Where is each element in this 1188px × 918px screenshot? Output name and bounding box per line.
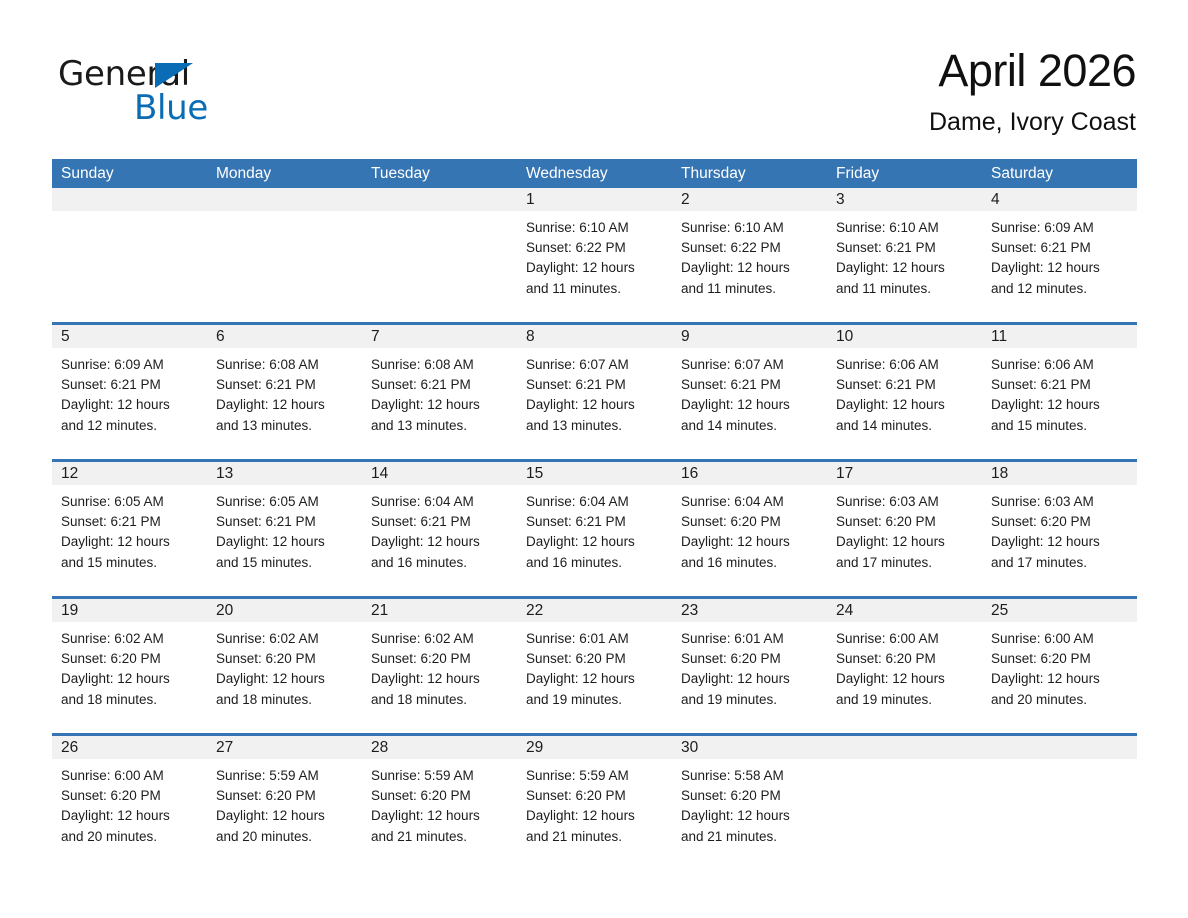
calendar-week-row: 26Sunrise: 6:00 AMSunset: 6:20 PMDayligh…: [52, 733, 1137, 865]
day-daylight-line-text: Daylight: 12 hours: [216, 669, 353, 689]
calendar-day-cell[interactable]: 25Sunrise: 6:00 AMSunset: 6:20 PMDayligh…: [982, 599, 1137, 728]
day-number: 11: [982, 325, 1137, 348]
day-daylight-line-text: Daylight: 12 hours: [371, 532, 508, 552]
day-daylight-line-text: and 16 minutes.: [681, 553, 818, 573]
day-daylight-line-text: and 16 minutes.: [526, 553, 663, 573]
day-number: 22: [517, 599, 672, 622]
day-details: Sunrise: 6:06 AMSunset: 6:21 PMDaylight:…: [982, 348, 1137, 436]
day-sunset-text: Sunset: 6:20 PM: [526, 649, 663, 669]
day-details: Sunrise: 6:10 AMSunset: 6:22 PMDaylight:…: [517, 211, 672, 299]
day-sunset-text: Sunset: 6:20 PM: [371, 649, 508, 669]
day-details: Sunrise: 6:06 AMSunset: 6:21 PMDaylight:…: [827, 348, 982, 436]
calendar-day-cell[interactable]: 24Sunrise: 6:00 AMSunset: 6:20 PMDayligh…: [827, 599, 982, 728]
day-number: 9: [672, 325, 827, 348]
day-details: Sunrise: 6:09 AMSunset: 6:21 PMDaylight:…: [982, 211, 1137, 299]
day-daylight-line-text: and 20 minutes.: [216, 827, 353, 847]
page-title: April 2026: [929, 44, 1136, 98]
calendar-day-cell-empty: [362, 188, 517, 317]
day-sunrise-text: Sunrise: 6:07 AM: [526, 355, 663, 375]
day-number: 25: [982, 599, 1137, 622]
day-daylight-line-text: and 18 minutes.: [371, 690, 508, 710]
day-sunset-text: Sunset: 6:20 PM: [836, 649, 973, 669]
day-number: 29: [517, 736, 672, 759]
day-sunset-text: Sunset: 6:20 PM: [371, 786, 508, 806]
calendar-day-cell[interactable]: 20Sunrise: 6:02 AMSunset: 6:20 PMDayligh…: [207, 599, 362, 728]
day-sunset-text: Sunset: 6:20 PM: [681, 786, 818, 806]
calendar-day-cell[interactable]: 22Sunrise: 6:01 AMSunset: 6:20 PMDayligh…: [517, 599, 672, 728]
day-details: [207, 211, 362, 218]
day-daylight-line-text: Daylight: 12 hours: [991, 532, 1128, 552]
day-details: Sunrise: 6:08 AMSunset: 6:21 PMDaylight:…: [362, 348, 517, 436]
day-details: Sunrise: 6:04 AMSunset: 6:21 PMDaylight:…: [362, 485, 517, 573]
day-sunset-text: Sunset: 6:20 PM: [216, 649, 353, 669]
calendar-week-row: 1Sunrise: 6:10 AMSunset: 6:22 PMDaylight…: [52, 188, 1137, 317]
day-daylight-line-text: and 18 minutes.: [61, 690, 198, 710]
day-details: Sunrise: 6:00 AMSunset: 6:20 PMDaylight:…: [827, 622, 982, 710]
day-number: 10: [827, 325, 982, 348]
day-daylight-line-text: and 14 minutes.: [681, 416, 818, 436]
weekday-header-tuesday: Tuesday: [362, 159, 517, 188]
day-daylight-line-text: Daylight: 12 hours: [526, 395, 663, 415]
day-sunrise-text: Sunrise: 6:06 AM: [991, 355, 1128, 375]
calendar-day-cell-empty: [207, 188, 362, 317]
day-number: 3: [827, 188, 982, 211]
calendar-day-cell[interactable]: 26Sunrise: 6:00 AMSunset: 6:20 PMDayligh…: [52, 736, 207, 865]
calendar-week-row: 19Sunrise: 6:02 AMSunset: 6:20 PMDayligh…: [52, 596, 1137, 728]
day-daylight-line-text: Daylight: 12 hours: [991, 669, 1128, 689]
day-sunset-text: Sunset: 6:21 PM: [216, 375, 353, 395]
calendar-day-cell[interactable]: 18Sunrise: 6:03 AMSunset: 6:20 PMDayligh…: [982, 462, 1137, 591]
day-sunrise-text: Sunrise: 6:05 AM: [216, 492, 353, 512]
calendar-day-cell-empty: [827, 736, 982, 865]
day-number: [52, 188, 207, 211]
day-daylight-line-text: Daylight: 12 hours: [836, 532, 973, 552]
day-daylight-line-text: and 13 minutes.: [526, 416, 663, 436]
calendar-day-cell[interactable]: 1Sunrise: 6:10 AMSunset: 6:22 PMDaylight…: [517, 188, 672, 317]
day-sunrise-text: Sunrise: 5:59 AM: [371, 766, 508, 786]
day-daylight-line-text: Daylight: 12 hours: [836, 395, 973, 415]
day-sunrise-text: Sunrise: 6:03 AM: [991, 492, 1128, 512]
day-details: Sunrise: 5:59 AMSunset: 6:20 PMDaylight:…: [362, 759, 517, 847]
day-daylight-line-text: and 15 minutes.: [991, 416, 1128, 436]
day-sunrise-text: Sunrise: 5:59 AM: [526, 766, 663, 786]
day-sunset-text: Sunset: 6:21 PM: [61, 375, 198, 395]
day-daylight-line-text: and 19 minutes.: [681, 690, 818, 710]
day-daylight-line-text: Daylight: 12 hours: [836, 258, 973, 278]
day-sunrise-text: Sunrise: 6:01 AM: [526, 629, 663, 649]
day-details: Sunrise: 6:02 AMSunset: 6:20 PMDaylight:…: [362, 622, 517, 710]
calendar-day-cell[interactable]: 16Sunrise: 6:04 AMSunset: 6:20 PMDayligh…: [672, 462, 827, 591]
calendar-day-cell[interactable]: 6Sunrise: 6:08 AMSunset: 6:21 PMDaylight…: [207, 325, 362, 454]
day-daylight-line-text: Daylight: 12 hours: [991, 395, 1128, 415]
day-daylight-line-text: and 17 minutes.: [836, 553, 973, 573]
weekday-header-wednesday: Wednesday: [517, 159, 672, 188]
day-daylight-line-text: Daylight: 12 hours: [216, 806, 353, 826]
calendar-day-cell[interactable]: 23Sunrise: 6:01 AMSunset: 6:20 PMDayligh…: [672, 599, 827, 728]
day-sunset-text: Sunset: 6:20 PM: [681, 512, 818, 532]
day-daylight-line-text: Daylight: 12 hours: [216, 395, 353, 415]
calendar-day-cell-empty: [982, 736, 1137, 865]
day-details: Sunrise: 6:01 AMSunset: 6:20 PMDaylight:…: [672, 622, 827, 710]
day-sunset-text: Sunset: 6:21 PM: [991, 238, 1128, 258]
day-details: Sunrise: 5:59 AMSunset: 6:20 PMDaylight:…: [207, 759, 362, 847]
calendar-week-row: 5Sunrise: 6:09 AMSunset: 6:21 PMDaylight…: [52, 322, 1137, 454]
day-sunrise-text: Sunrise: 6:00 AM: [836, 629, 973, 649]
day-sunset-text: Sunset: 6:22 PM: [681, 238, 818, 258]
calendar-day-cell[interactable]: 12Sunrise: 6:05 AMSunset: 6:21 PMDayligh…: [52, 462, 207, 591]
day-daylight-line-text: Daylight: 12 hours: [681, 395, 818, 415]
day-number: 23: [672, 599, 827, 622]
day-daylight-line-text: and 14 minutes.: [836, 416, 973, 436]
day-details: Sunrise: 6:09 AMSunset: 6:21 PMDaylight:…: [52, 348, 207, 436]
day-details: Sunrise: 6:07 AMSunset: 6:21 PMDaylight:…: [672, 348, 827, 436]
weekday-header-row: Sunday Monday Tuesday Wednesday Thursday…: [52, 159, 1137, 188]
day-daylight-line-text: and 11 minutes.: [681, 279, 818, 299]
day-number: 8: [517, 325, 672, 348]
calendar-day-cell[interactable]: 21Sunrise: 6:02 AMSunset: 6:20 PMDayligh…: [362, 599, 517, 728]
day-sunrise-text: Sunrise: 6:04 AM: [526, 492, 663, 512]
day-number: 24: [827, 599, 982, 622]
calendar-day-cell[interactable]: 2Sunrise: 6:10 AMSunset: 6:22 PMDaylight…: [672, 188, 827, 317]
day-daylight-line-text: and 19 minutes.: [526, 690, 663, 710]
calendar-day-cell[interactable]: 8Sunrise: 6:07 AMSunset: 6:21 PMDaylight…: [517, 325, 672, 454]
calendar-day-cell[interactable]: 29Sunrise: 5:59 AMSunset: 6:20 PMDayligh…: [517, 736, 672, 865]
day-number: 26: [52, 736, 207, 759]
day-daylight-line-text: and 13 minutes.: [216, 416, 353, 436]
day-sunrise-text: Sunrise: 6:09 AM: [61, 355, 198, 375]
day-number: [827, 736, 982, 759]
day-details: [52, 211, 207, 218]
day-number: 21: [362, 599, 517, 622]
day-daylight-line-text: and 12 minutes.: [61, 416, 198, 436]
day-details: [362, 211, 517, 218]
calendar-weeks: 1Sunrise: 6:10 AMSunset: 6:22 PMDaylight…: [52, 188, 1137, 865]
calendar-day-cell[interactable]: 3Sunrise: 6:10 AMSunset: 6:21 PMDaylight…: [827, 188, 982, 317]
day-daylight-line-text: and 18 minutes.: [216, 690, 353, 710]
page-header: General Blue April 2026 Dame, Ivory Coas…: [52, 44, 1136, 148]
day-number: [207, 188, 362, 211]
day-daylight-line-text: Daylight: 12 hours: [681, 669, 818, 689]
weekday-header-saturday: Saturday: [982, 159, 1137, 188]
calendar-day-cell[interactable]: 4Sunrise: 6:09 AMSunset: 6:21 PMDaylight…: [982, 188, 1137, 317]
day-sunset-text: Sunset: 6:20 PM: [61, 649, 198, 669]
day-daylight-line-text: and 13 minutes.: [371, 416, 508, 436]
day-daylight-line-text: Daylight: 12 hours: [681, 806, 818, 826]
day-number: 13: [207, 462, 362, 485]
day-sunset-text: Sunset: 6:21 PM: [836, 238, 973, 258]
calendar-day-cell[interactable]: 17Sunrise: 6:03 AMSunset: 6:20 PMDayligh…: [827, 462, 982, 591]
day-sunrise-text: Sunrise: 6:08 AM: [371, 355, 508, 375]
day-number: 6: [207, 325, 362, 348]
day-details: Sunrise: 6:05 AMSunset: 6:21 PMDaylight:…: [52, 485, 207, 573]
day-number: 15: [517, 462, 672, 485]
day-daylight-line-text: Daylight: 12 hours: [836, 669, 973, 689]
day-daylight-line-text: and 19 minutes.: [836, 690, 973, 710]
day-sunset-text: Sunset: 6:21 PM: [991, 375, 1128, 395]
day-sunrise-text: Sunrise: 6:04 AM: [681, 492, 818, 512]
calendar-day-cell[interactable]: 19Sunrise: 6:02 AMSunset: 6:20 PMDayligh…: [52, 599, 207, 728]
day-daylight-line-text: and 17 minutes.: [991, 553, 1128, 573]
triangle-icon: [155, 63, 193, 88]
day-daylight-line-text: and 21 minutes.: [681, 827, 818, 847]
calendar-day-cell[interactable]: 5Sunrise: 6:09 AMSunset: 6:21 PMDaylight…: [52, 325, 207, 454]
day-sunrise-text: Sunrise: 6:10 AM: [681, 218, 818, 238]
day-daylight-line-text: Daylight: 12 hours: [526, 258, 663, 278]
day-sunset-text: Sunset: 6:20 PM: [61, 786, 198, 806]
day-sunrise-text: Sunrise: 6:01 AM: [681, 629, 818, 649]
day-sunrise-text: Sunrise: 6:07 AM: [681, 355, 818, 375]
day-number: 28: [362, 736, 517, 759]
day-details: Sunrise: 6:02 AMSunset: 6:20 PMDaylight:…: [52, 622, 207, 710]
day-sunset-text: Sunset: 6:21 PM: [371, 512, 508, 532]
weekday-header-friday: Friday: [827, 159, 982, 188]
logo-text-blue: Blue: [134, 88, 208, 128]
day-daylight-line-text: Daylight: 12 hours: [371, 806, 508, 826]
day-daylight-line-text: Daylight: 12 hours: [526, 806, 663, 826]
day-daylight-line-text: and 16 minutes.: [371, 553, 508, 573]
day-number: 5: [52, 325, 207, 348]
day-number: [982, 736, 1137, 759]
calendar-day-cell[interactable]: 28Sunrise: 5:59 AMSunset: 6:20 PMDayligh…: [362, 736, 517, 865]
page-subtitle: Dame, Ivory Coast: [929, 108, 1136, 137]
calendar-day-cell-empty: [52, 188, 207, 317]
day-details: Sunrise: 6:07 AMSunset: 6:21 PMDaylight:…: [517, 348, 672, 436]
day-sunrise-text: Sunrise: 6:04 AM: [371, 492, 508, 512]
weekday-header-sunday: Sunday: [52, 159, 207, 188]
day-sunset-text: Sunset: 6:21 PM: [836, 375, 973, 395]
day-daylight-line-text: and 21 minutes.: [371, 827, 508, 847]
day-details: Sunrise: 6:04 AMSunset: 6:20 PMDaylight:…: [672, 485, 827, 573]
day-sunset-text: Sunset: 6:21 PM: [526, 512, 663, 532]
calendar-page: General Blue April 2026 Dame, Ivory Coas…: [0, 0, 1188, 918]
day-details: Sunrise: 6:04 AMSunset: 6:21 PMDaylight:…: [517, 485, 672, 573]
day-sunrise-text: Sunrise: 6:00 AM: [991, 629, 1128, 649]
day-daylight-line-text: Daylight: 12 hours: [681, 532, 818, 552]
day-daylight-line-text: Daylight: 12 hours: [371, 669, 508, 689]
generalblue-logo[interactable]: General Blue: [58, 54, 258, 140]
day-number: 4: [982, 188, 1137, 211]
day-sunset-text: Sunset: 6:20 PM: [991, 649, 1128, 669]
day-number: 14: [362, 462, 517, 485]
calendar-day-cell[interactable]: 9Sunrise: 6:07 AMSunset: 6:21 PMDaylight…: [672, 325, 827, 454]
calendar-day-cell[interactable]: 30Sunrise: 5:58 AMSunset: 6:20 PMDayligh…: [672, 736, 827, 865]
day-number: 20: [207, 599, 362, 622]
day-sunrise-text: Sunrise: 6:10 AM: [836, 218, 973, 238]
day-daylight-line-text: and 15 minutes.: [216, 553, 353, 573]
calendar-grid: Sunday Monday Tuesday Wednesday Thursday…: [52, 159, 1137, 865]
day-sunset-text: Sunset: 6:20 PM: [991, 512, 1128, 532]
calendar-day-cell[interactable]: 27Sunrise: 5:59 AMSunset: 6:20 PMDayligh…: [207, 736, 362, 865]
day-daylight-line-text: and 11 minutes.: [836, 279, 973, 299]
day-details: Sunrise: 5:58 AMSunset: 6:20 PMDaylight:…: [672, 759, 827, 847]
calendar-day-cell[interactable]: 10Sunrise: 6:06 AMSunset: 6:21 PMDayligh…: [827, 325, 982, 454]
day-sunrise-text: Sunrise: 6:05 AM: [61, 492, 198, 512]
day-details: Sunrise: 6:01 AMSunset: 6:20 PMDaylight:…: [517, 622, 672, 710]
weekday-header-thursday: Thursday: [672, 159, 827, 188]
day-number: 7: [362, 325, 517, 348]
day-details: Sunrise: 6:00 AMSunset: 6:20 PMDaylight:…: [52, 759, 207, 847]
day-sunset-text: Sunset: 6:21 PM: [216, 512, 353, 532]
day-daylight-line-text: Daylight: 12 hours: [371, 395, 508, 415]
day-details: Sunrise: 6:03 AMSunset: 6:20 PMDaylight:…: [827, 485, 982, 573]
day-number: 1: [517, 188, 672, 211]
day-sunrise-text: Sunrise: 6:02 AM: [216, 629, 353, 649]
day-daylight-line-text: Daylight: 12 hours: [526, 669, 663, 689]
day-daylight-line-text: and 11 minutes.: [526, 279, 663, 299]
day-sunset-text: Sunset: 6:21 PM: [681, 375, 818, 395]
day-daylight-line-text: and 20 minutes.: [61, 827, 198, 847]
calendar-day-cell[interactable]: 14Sunrise: 6:04 AMSunset: 6:21 PMDayligh…: [362, 462, 517, 591]
weekday-header-monday: Monday: [207, 159, 362, 188]
calendar-day-cell[interactable]: 11Sunrise: 6:06 AMSunset: 6:21 PMDayligh…: [982, 325, 1137, 454]
day-daylight-line-text: Daylight: 12 hours: [61, 395, 198, 415]
day-number: 18: [982, 462, 1137, 485]
day-daylight-line-text: Daylight: 12 hours: [61, 532, 198, 552]
day-sunrise-text: Sunrise: 6:08 AM: [216, 355, 353, 375]
day-sunrise-text: Sunrise: 6:06 AM: [836, 355, 973, 375]
day-sunset-text: Sunset: 6:20 PM: [681, 649, 818, 669]
day-sunrise-text: Sunrise: 6:00 AM: [61, 766, 198, 786]
day-sunset-text: Sunset: 6:21 PM: [526, 375, 663, 395]
calendar-day-cell[interactable]: 15Sunrise: 6:04 AMSunset: 6:21 PMDayligh…: [517, 462, 672, 591]
day-number: 27: [207, 736, 362, 759]
day-daylight-line-text: and 20 minutes.: [991, 690, 1128, 710]
day-sunset-text: Sunset: 6:20 PM: [836, 512, 973, 532]
day-details: Sunrise: 6:00 AMSunset: 6:20 PMDaylight:…: [982, 622, 1137, 710]
day-details: [827, 759, 982, 766]
day-details: Sunrise: 6:10 AMSunset: 6:22 PMDaylight:…: [672, 211, 827, 299]
day-sunset-text: Sunset: 6:22 PM: [526, 238, 663, 258]
calendar-day-cell[interactable]: 13Sunrise: 6:05 AMSunset: 6:21 PMDayligh…: [207, 462, 362, 591]
day-details: Sunrise: 6:02 AMSunset: 6:20 PMDaylight:…: [207, 622, 362, 710]
day-number: 30: [672, 736, 827, 759]
day-number: 12: [52, 462, 207, 485]
day-sunset-text: Sunset: 6:20 PM: [216, 786, 353, 806]
day-sunrise-text: Sunrise: 6:10 AM: [526, 218, 663, 238]
day-details: Sunrise: 6:08 AMSunset: 6:21 PMDaylight:…: [207, 348, 362, 436]
day-sunrise-text: Sunrise: 5:59 AM: [216, 766, 353, 786]
day-number: 2: [672, 188, 827, 211]
day-daylight-line-text: Daylight: 12 hours: [526, 532, 663, 552]
day-sunset-text: Sunset: 6:20 PM: [526, 786, 663, 806]
day-daylight-line-text: Daylight: 12 hours: [216, 532, 353, 552]
day-details: Sunrise: 6:03 AMSunset: 6:20 PMDaylight:…: [982, 485, 1137, 573]
day-number: 16: [672, 462, 827, 485]
day-details: Sunrise: 6:10 AMSunset: 6:21 PMDaylight:…: [827, 211, 982, 299]
day-sunset-text: Sunset: 6:21 PM: [371, 375, 508, 395]
day-sunrise-text: Sunrise: 6:02 AM: [371, 629, 508, 649]
calendar-day-cell[interactable]: 7Sunrise: 6:08 AMSunset: 6:21 PMDaylight…: [362, 325, 517, 454]
day-daylight-line-text: Daylight: 12 hours: [61, 806, 198, 826]
day-sunset-text: Sunset: 6:21 PM: [61, 512, 198, 532]
day-sunrise-text: Sunrise: 6:02 AM: [61, 629, 198, 649]
day-daylight-line-text: and 21 minutes.: [526, 827, 663, 847]
day-daylight-line-text: Daylight: 12 hours: [681, 258, 818, 278]
day-sunrise-text: Sunrise: 6:09 AM: [991, 218, 1128, 238]
day-daylight-line-text: and 15 minutes.: [61, 553, 198, 573]
day-number: 17: [827, 462, 982, 485]
day-number: 19: [52, 599, 207, 622]
day-daylight-line-text: and 12 minutes.: [991, 279, 1128, 299]
day-number: [362, 188, 517, 211]
day-daylight-line-text: Daylight: 12 hours: [991, 258, 1128, 278]
day-details: [982, 759, 1137, 766]
day-daylight-line-text: Daylight: 12 hours: [61, 669, 198, 689]
day-sunrise-text: Sunrise: 5:58 AM: [681, 766, 818, 786]
day-details: Sunrise: 6:05 AMSunset: 6:21 PMDaylight:…: [207, 485, 362, 573]
day-details: Sunrise: 5:59 AMSunset: 6:20 PMDaylight:…: [517, 759, 672, 847]
calendar-week-row: 12Sunrise: 6:05 AMSunset: 6:21 PMDayligh…: [52, 459, 1137, 591]
day-sunrise-text: Sunrise: 6:03 AM: [836, 492, 973, 512]
title-block: April 2026 Dame, Ivory Coast: [929, 44, 1136, 137]
